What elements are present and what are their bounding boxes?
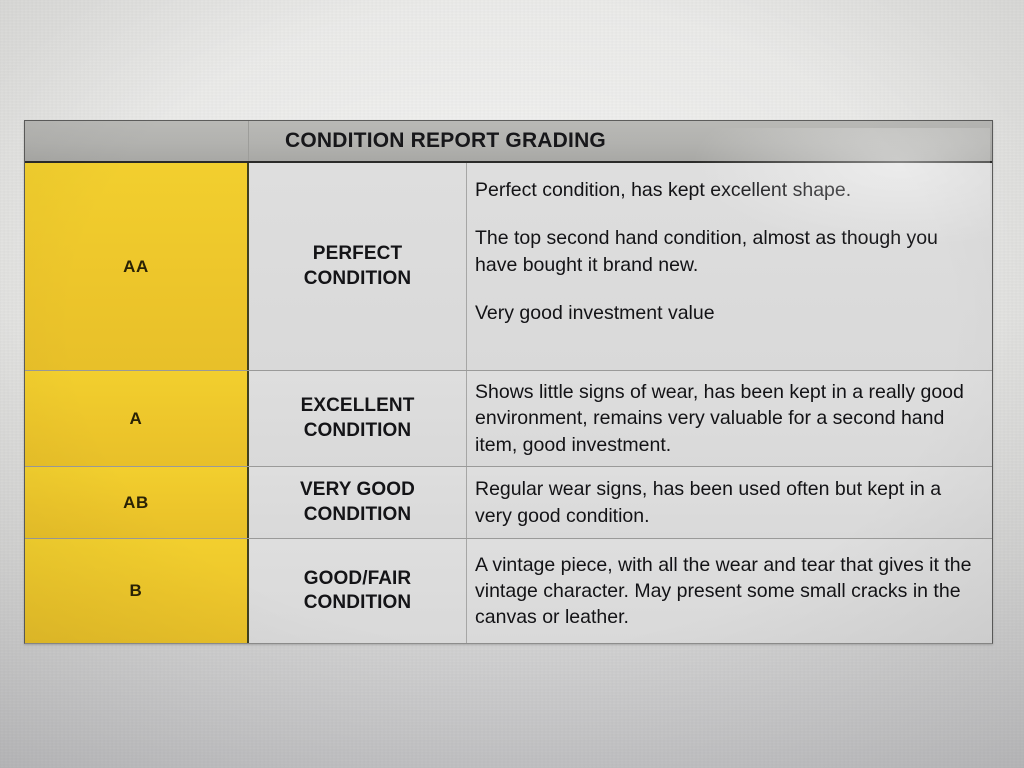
condition-name-aa: PERFECT CONDITION	[249, 163, 467, 370]
table-header-spacer-cell	[25, 121, 249, 161]
condition-description-ab: Regular wear signs, has been used often …	[467, 467, 992, 538]
condition-name-line-1: EXCELLENT	[301, 395, 415, 416]
condition-report-grading-table: CONDITION REPORT GRADING AA PERFECT COND…	[24, 120, 993, 644]
condition-name-line-1: GOOD/FAIR	[304, 568, 412, 589]
description-paragraph: Shows little signs of wear, has been kep…	[475, 379, 976, 458]
condition-name-line-1: VERY GOOD	[300, 479, 415, 500]
table-row: B GOOD/FAIR CONDITION A vintage piece, w…	[25, 539, 992, 643]
page-title: CONDITION REPORT GRADING	[249, 129, 606, 153]
condition-name-line-2: CONDITION	[304, 420, 412, 441]
condition-name-line-1: PERFECT	[313, 243, 402, 264]
grade-code-aa: AA	[25, 163, 249, 370]
condition-name-ab: VERY GOOD CONDITION	[249, 467, 467, 538]
condition-name-line-2: CONDITION	[304, 592, 412, 613]
grade-code-b: B	[25, 539, 249, 643]
grade-code-ab: AB	[25, 467, 249, 538]
condition-description-aa: Perfect condition, has kept excellent sh…	[467, 163, 992, 370]
description-paragraph: A vintage piece, with all the wear and t…	[475, 552, 976, 631]
description-paragraph: Very good investment value	[475, 300, 976, 326]
description-paragraph: Perfect condition, has kept excellent sh…	[475, 177, 976, 203]
table-row: AB VERY GOOD CONDITION Regular wear sign…	[25, 467, 992, 539]
grade-code-a: A	[25, 371, 249, 466]
table-body: AA PERFECT CONDITION Perfect condition, …	[25, 163, 992, 643]
condition-description-b: A vintage piece, with all the wear and t…	[467, 539, 992, 643]
condition-name-a: EXCELLENT CONDITION	[249, 371, 467, 466]
table-row: AA PERFECT CONDITION Perfect condition, …	[25, 163, 992, 371]
table-header-row: CONDITION REPORT GRADING	[25, 121, 992, 163]
condition-name-line-2: CONDITION	[304, 504, 412, 525]
condition-name-line-2: CONDITION	[304, 268, 412, 289]
condition-name-b: GOOD/FAIR CONDITION	[249, 539, 467, 643]
description-paragraph: The top second hand condition, almost as…	[475, 225, 976, 278]
condition-description-a: Shows little signs of wear, has been kep…	[467, 371, 992, 466]
table-row: A EXCELLENT CONDITION Shows little signs…	[25, 371, 992, 467]
description-paragraph: Regular wear signs, has been used often …	[475, 476, 976, 529]
